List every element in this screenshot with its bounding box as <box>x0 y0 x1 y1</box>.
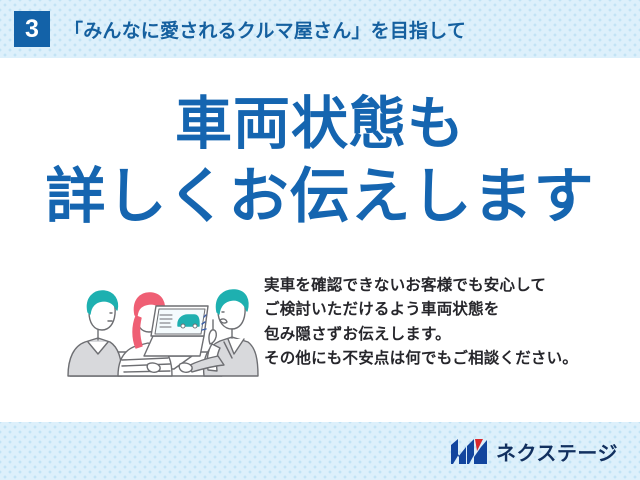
step-number-badge: 3 <box>14 11 50 47</box>
consultation-illustration <box>52 272 262 392</box>
body-line-1: 実車を確認できないお客様でも安心して <box>264 274 640 298</box>
footer: ネクステージ <box>0 422 640 480</box>
body-area: 実車を確認できないお客様でも安心して ご検討いただけるよう車両状態を 包み隠さず… <box>0 270 640 420</box>
promo-banner: 3 「みんなに愛されるクルマ屋さん」を目指して 車両状態も 詳しくお伝えします <box>0 0 640 480</box>
body-line-2: ご検討いただけるよう車両状態を <box>264 298 640 322</box>
nextage-n-logo-icon <box>450 438 488 465</box>
body-line-4: その他にも不安点は何でもご相談ください。 <box>264 347 640 371</box>
headline-line-1: 車両状態も <box>0 90 640 160</box>
headline: 車両状態も 詳しくお伝えします <box>0 90 640 233</box>
headline-line-2: 詳しくお伝えします <box>0 160 640 233</box>
brand-lockup: ネクステージ <box>450 437 618 466</box>
body-line-3: 包み隠さずお伝えします。 <box>264 323 640 347</box>
header: 3 「みんなに愛されるクルマ屋さん」を目指して <box>0 0 640 58</box>
content-card: 車両状態も 詳しくお伝えします <box>0 58 640 422</box>
body-text: 実車を確認できないお客様でも安心して ご検討いただけるよう車両状態を 包み隠さず… <box>264 270 640 372</box>
brand-name: ネクステージ <box>496 437 618 466</box>
header-title: 「みんなに愛されるクルマ屋さん」を目指して <box>64 16 466 43</box>
